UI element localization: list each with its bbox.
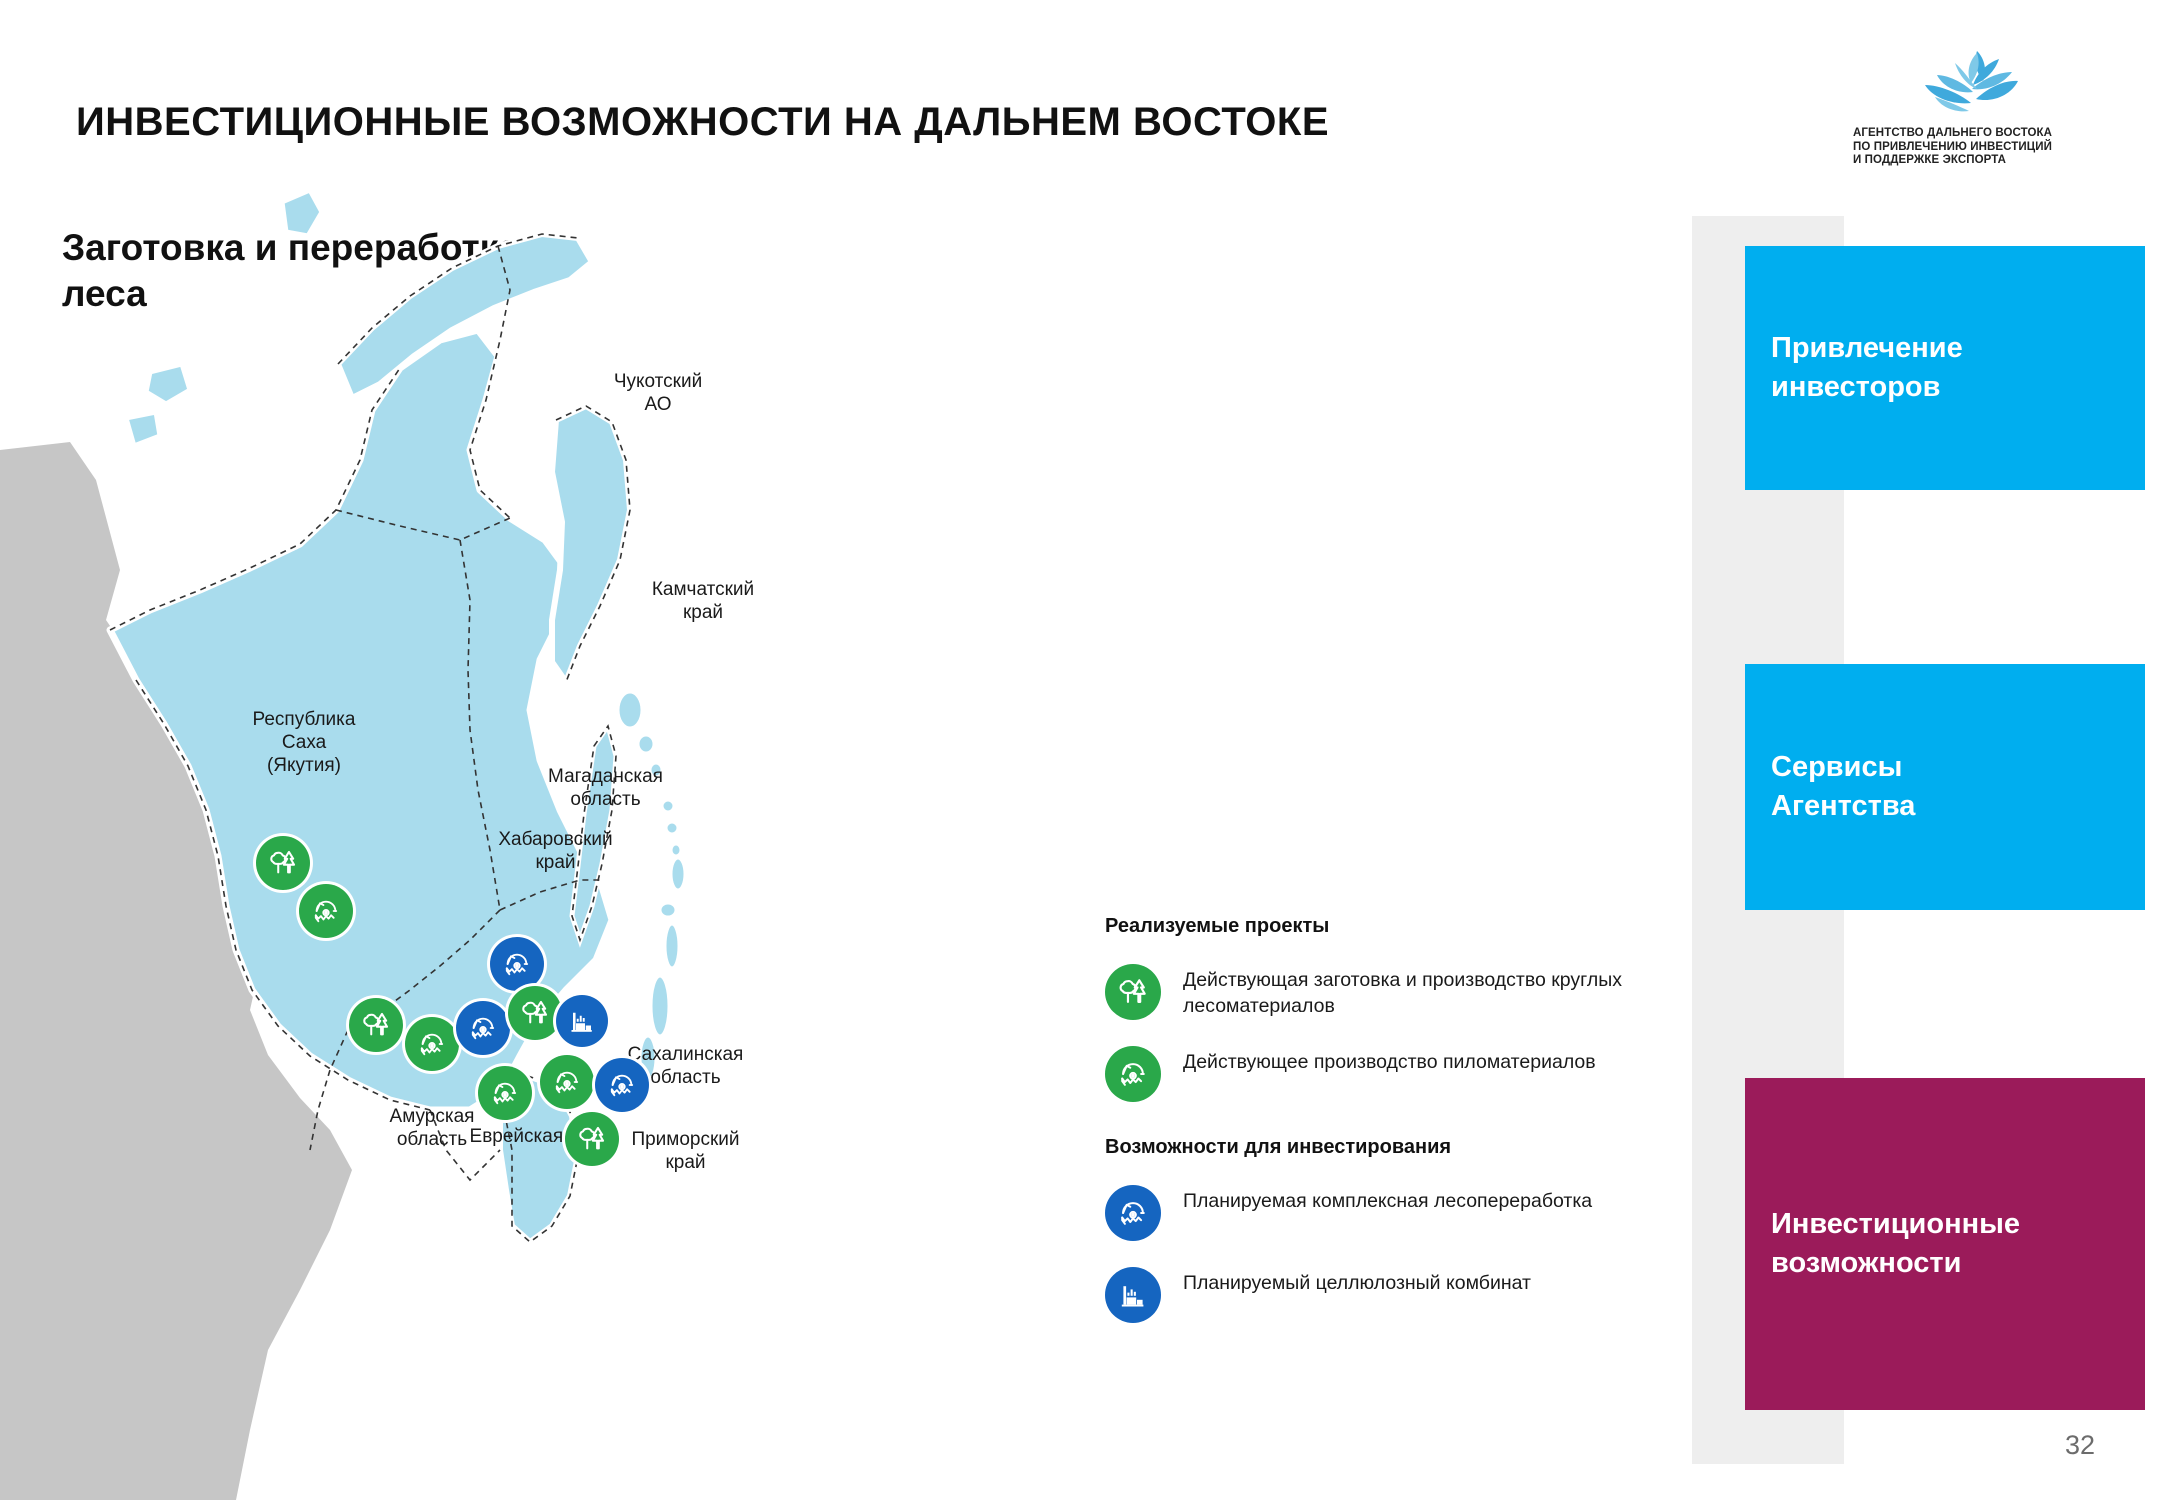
logo-text-line-2: ПО ПРИВЛЕЧЕНИЮ ИНВЕСТИЦИЙ — [1853, 141, 2115, 155]
marker-sawmill-khab-2[interactable] — [456, 1001, 510, 1055]
legend-label-investment-complex: Планируемая комплексная лесопереработка — [1183, 1185, 1592, 1214]
sawmill-icon — [1115, 1056, 1151, 1092]
sawmill-icon — [550, 1065, 584, 1099]
legend-item-existing-sawmill: Действующее производство пиломатериалов — [1105, 1046, 1635, 1102]
map-graphic — [0, 150, 1060, 1500]
logo-text-line-3: И ПОДДЕРЖКЕ ЭКСПОРТА — [1853, 154, 2115, 168]
forest-icon — [518, 996, 552, 1030]
rail-card-services[interactable]: Сервисы Агентства — [1745, 664, 2145, 910]
marker-forest-prim-2[interactable] — [565, 1112, 619, 1166]
marker-sawmill-prim-1[interactable] — [595, 1058, 649, 1112]
marker-sawmill-eao-2[interactable] — [540, 1055, 594, 1109]
rail-card-label-investors: Привлечение инвесторов — [1771, 329, 1963, 407]
sawmill-icon — [466, 1011, 500, 1045]
marker-sawmill-eao-1[interactable] — [478, 1066, 532, 1120]
map-island-nw-1 — [282, 190, 322, 236]
forest-icon — [266, 846, 300, 880]
rail-card-opportunities[interactable]: Инвестиционные возможности — [1745, 1078, 2145, 1410]
legend-label-existing-sawmill: Действующее производство пиломатериалов — [1183, 1046, 1596, 1075]
marker-forest-khab-3[interactable] — [508, 986, 562, 1040]
legend-badge-sawmill-planned — [1105, 1185, 1161, 1241]
map-island-nw-3 — [126, 412, 160, 446]
rail-card-label-opportunities: Инвестиционные возможности — [1771, 1205, 2020, 1283]
legend-heading-existing: Реализуемые проекты — [1105, 915, 1635, 938]
factory-icon — [1117, 1279, 1149, 1311]
logo-text-line-1: АГЕНТСТВО ДАЛЬНЕГО ВОСТОКА — [1853, 127, 2115, 141]
legend-item-existing-forest: Действующая заготовка и производство кру… — [1105, 964, 1635, 1020]
legend-badge-factory — [1105, 1267, 1161, 1323]
slide: ИНВЕСТИЦИОННЫЕ ВОЗМОЖНОСТИ НА ДАЛЬНЕМ ВО… — [0, 0, 2167, 1500]
marker-sawmill-khab-1[interactable] — [490, 937, 544, 991]
page-number: 32 — [2065, 1430, 2095, 1461]
rail-card-label-services: Сервисы Агентства — [1771, 748, 1915, 826]
far-east-map: Чукотский АО Камчатский край Республика … — [0, 150, 1060, 1500]
legend-badge-sawmill — [1105, 1046, 1161, 1102]
sawmill-icon — [500, 947, 534, 981]
rail-card-investors[interactable]: Привлечение инвесторов — [1745, 246, 2145, 490]
sawmill-icon — [1115, 1195, 1151, 1231]
legend-item-investment-complex: Планируемая комплексная лесопереработка — [1105, 1185, 1635, 1241]
map-legend: Реализуемые проекты Действующая заготовк… — [1105, 915, 1635, 1349]
legend-label-investment-pulp: Планируемый целлюлозный комбинат — [1183, 1267, 1531, 1296]
marker-forest-sakha-1[interactable] — [256, 836, 310, 890]
forest-icon — [575, 1122, 609, 1156]
marker-sawmill-sakha-2[interactable] — [299, 884, 353, 938]
marker-sawmill-amur-2[interactable] — [405, 1017, 459, 1071]
sawmill-icon — [415, 1027, 449, 1061]
legend-label-existing-forest: Действующая заготовка и производство кру… — [1183, 964, 1635, 1019]
forest-icon — [359, 1008, 393, 1042]
forest-icon — [1115, 974, 1151, 1010]
legend-badge-forest — [1105, 964, 1161, 1020]
agency-logo: АГЕНТСТВО ДАЛЬНЕГО ВОСТОКА ПО ПРИВЛЕЧЕНИ… — [1845, 45, 2115, 168]
sawmill-icon — [488, 1076, 522, 1110]
legend-heading-investment: Возможности для инвестирования — [1105, 1136, 1635, 1159]
page-title: ИНВЕСТИЦИОННЫЕ ВОЗМОЖНОСТИ НА ДАЛЬНЕМ ВО… — [76, 100, 1329, 145]
map-island-nw-2 — [146, 364, 190, 404]
marker-pulp-khab-4[interactable] — [556, 995, 608, 1047]
legend-item-investment-pulp: Планируемый целлюлозный комбинат — [1105, 1267, 1635, 1323]
sawmill-icon — [605, 1068, 639, 1102]
marker-forest-amur-1[interactable] — [349, 998, 403, 1052]
sawmill-icon — [309, 894, 343, 928]
lotus-flower-icon — [1915, 45, 2045, 123]
factory-icon — [567, 1006, 597, 1036]
